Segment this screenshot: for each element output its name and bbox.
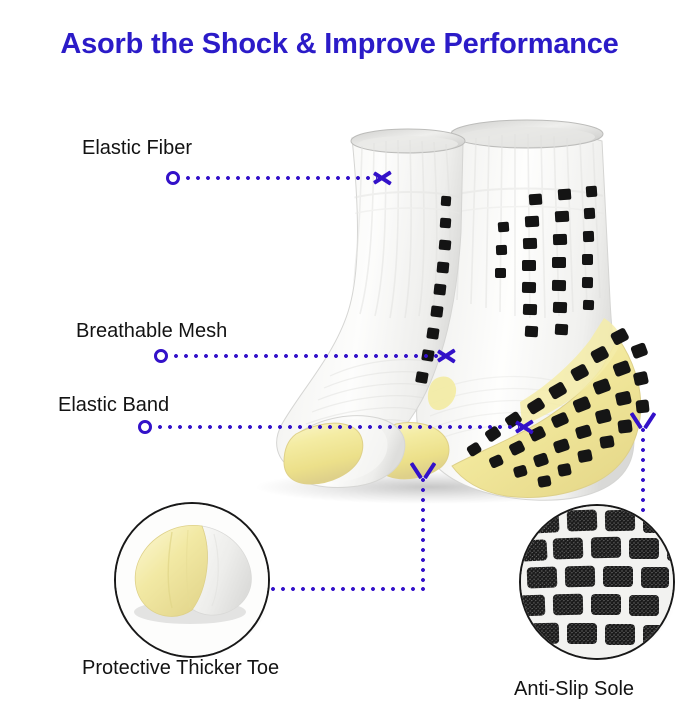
connector-vertical-sole <box>641 425 645 517</box>
infographic-root: Asorb the Shock & Improve Performance <box>0 0 679 726</box>
arrow-up-icon-toe <box>412 462 434 479</box>
callout-label-breathable-mesh: Breathable Mesh <box>76 320 227 343</box>
dotted-line-elastic-band <box>155 425 519 429</box>
connector-horizontal-toe <box>268 587 425 591</box>
leader-line-breathable-mesh <box>154 349 456 363</box>
leader-line-elastic-fiber <box>166 171 392 185</box>
arrow-up-icon-sole <box>632 412 654 429</box>
arrow-right-icon-breathable-mesh <box>438 346 457 366</box>
dotted-line-elastic-fiber <box>183 176 377 180</box>
callout-label-elastic-band: Elastic Band <box>58 394 169 417</box>
detail-circle-protective-thicker-toe <box>114 502 270 658</box>
arrow-right-icon-elastic-band <box>516 417 535 437</box>
callout-label-elastic-fiber: Elastic Fiber <box>82 137 192 160</box>
callout-label-anti-slip-sole: Anti-Slip Sole <box>514 678 634 701</box>
detail-circle-anti-slip-sole <box>519 504 675 660</box>
dotted-line-breathable-mesh <box>171 354 441 358</box>
leader-line-elastic-band <box>138 420 534 434</box>
arrow-right-icon-elastic-fiber <box>374 168 393 188</box>
connector-vertical-toe <box>421 475 425 589</box>
circle-marker-elastic-band <box>138 420 152 434</box>
circle-marker-elastic-fiber <box>166 171 180 185</box>
circle-marker-breathable-mesh <box>154 349 168 363</box>
callout-label-protective-thicker-toe: Protective Thicker Toe <box>82 657 279 680</box>
